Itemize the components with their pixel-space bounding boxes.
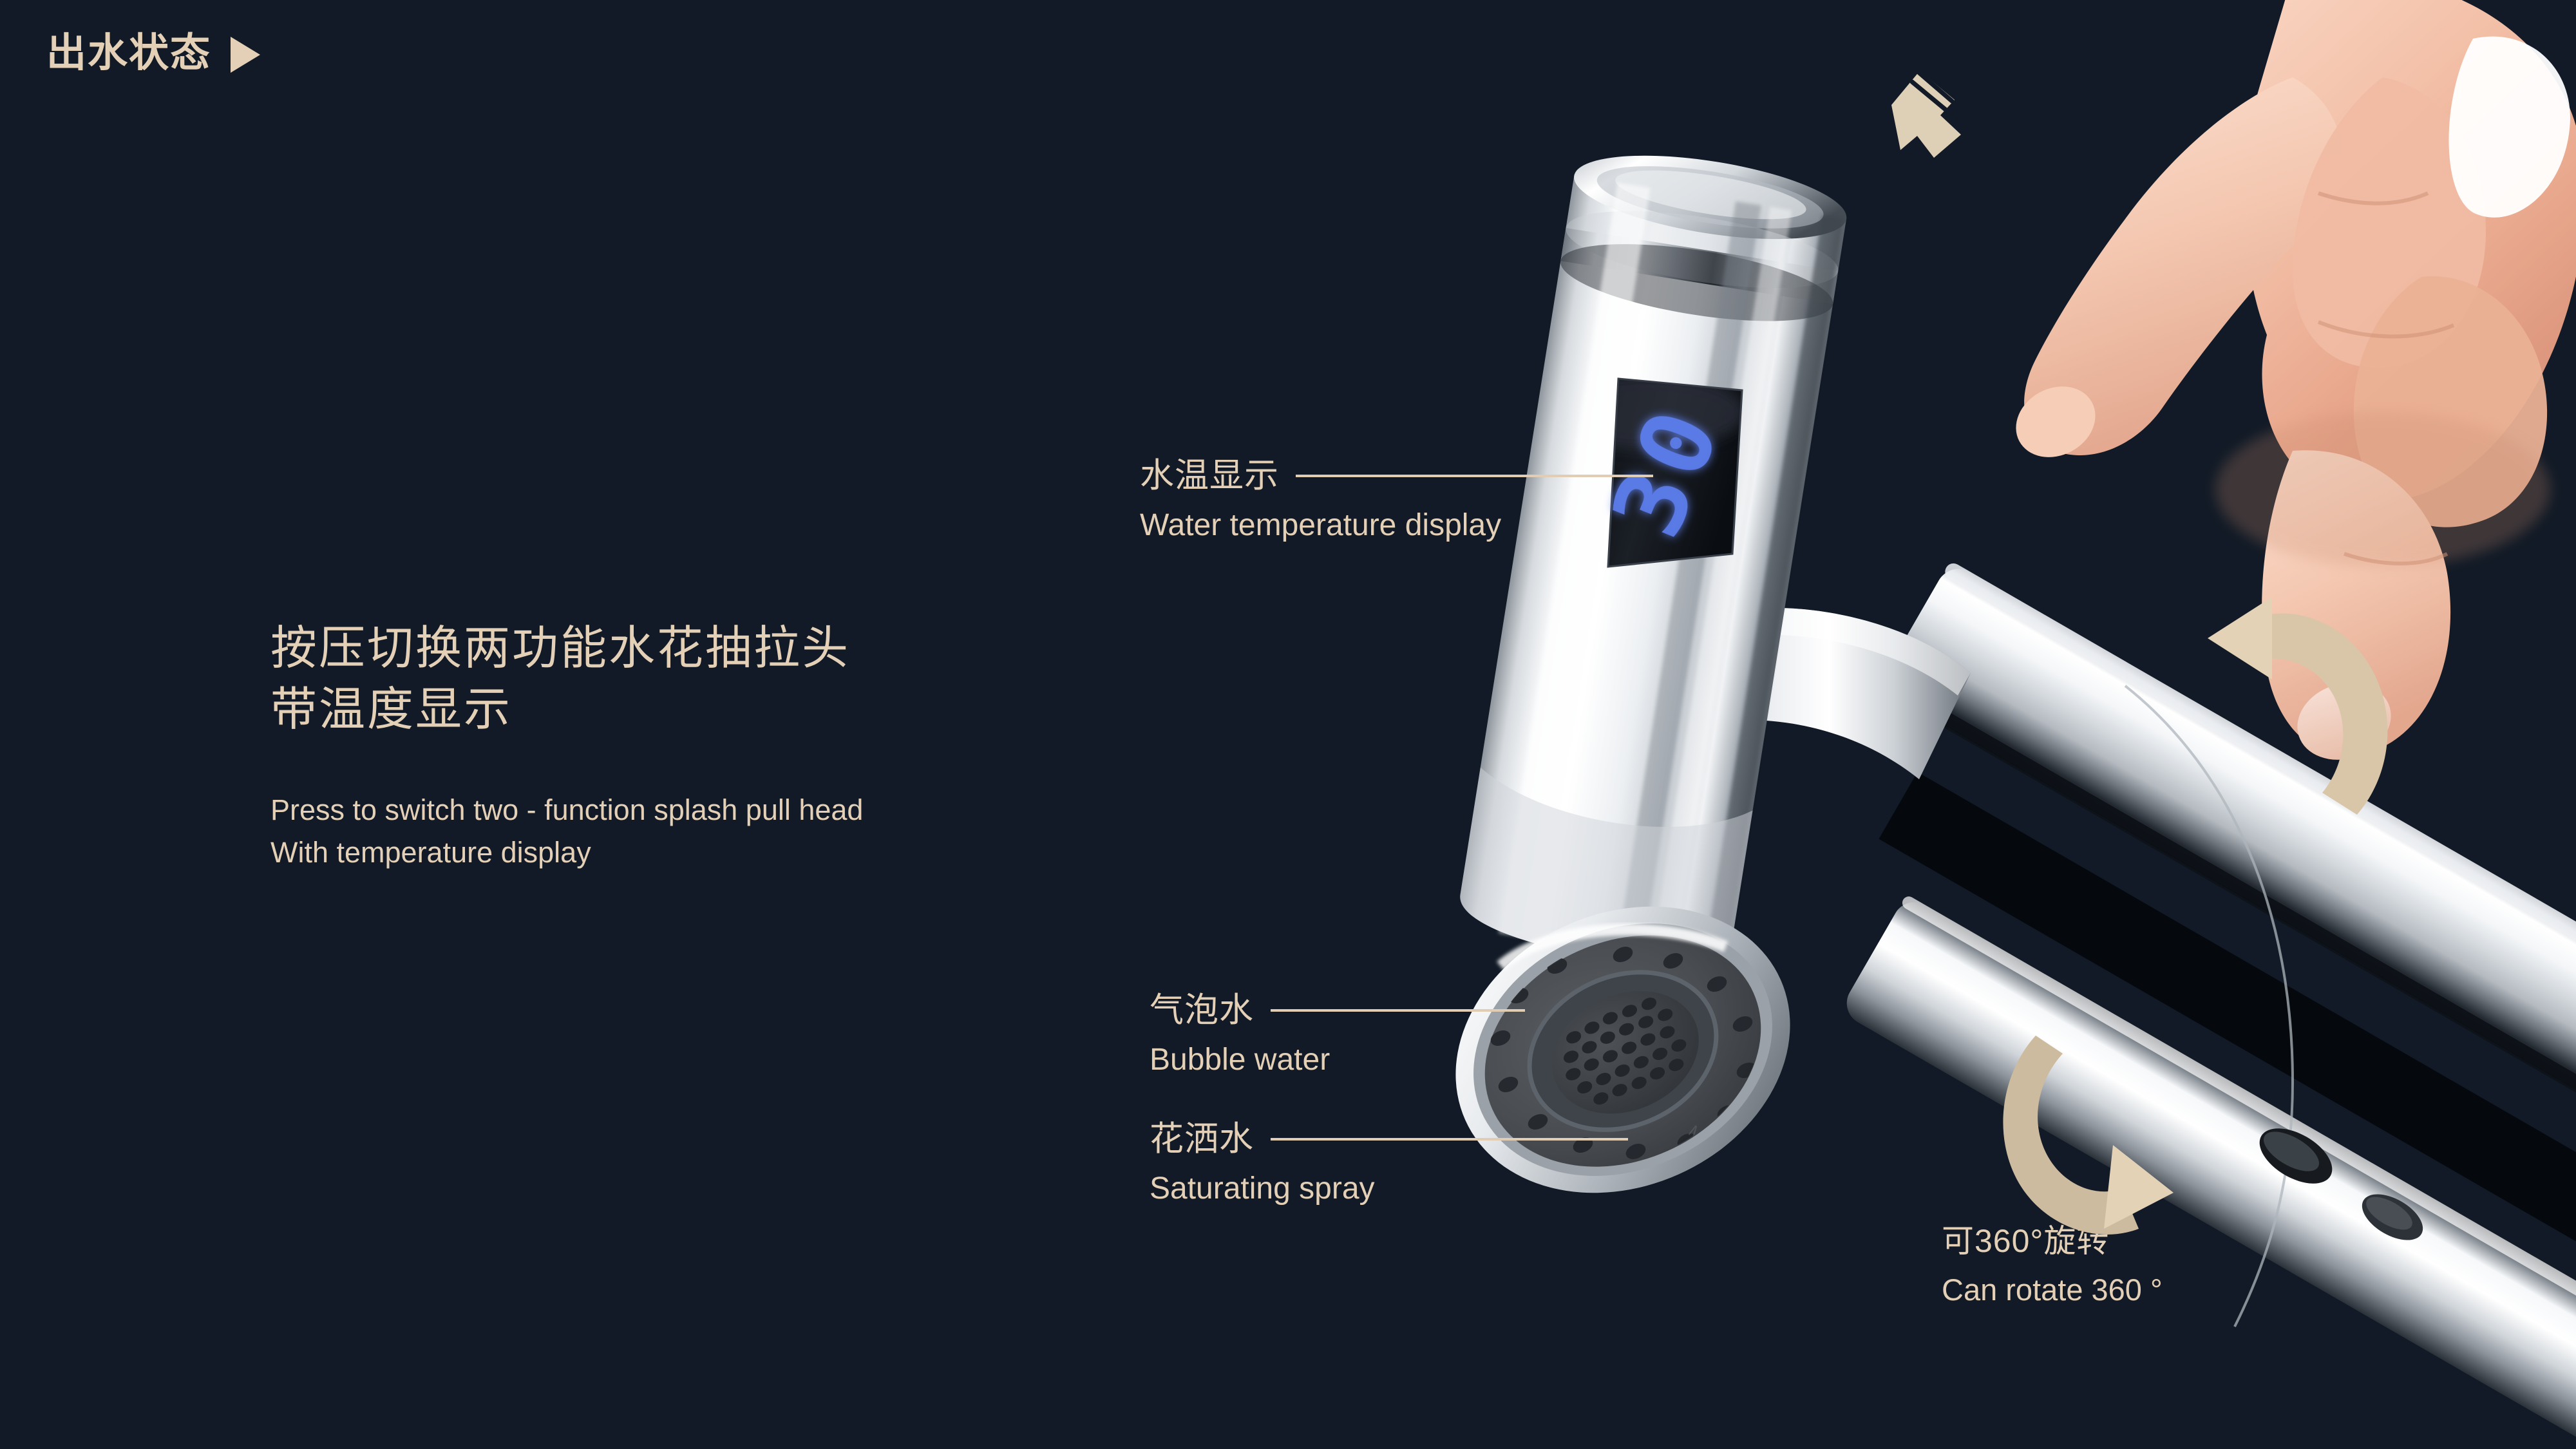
callout-bubble-water: 气泡水 Bubble water xyxy=(1150,992,1525,1077)
leader-line xyxy=(1296,475,1653,477)
rotate-clockwise-arrow-icon xyxy=(1987,1005,2244,1249)
callout-water-temperature: 水温显示 Water temperature display xyxy=(1140,457,1653,543)
feature-subtitle-en-line1: Press to switch two - function splash pu… xyxy=(270,791,1172,829)
feature-headline-cn-line1: 按压切换两功能水花抽拉头 xyxy=(270,618,1172,679)
play-triangle-icon xyxy=(231,37,260,73)
callout-bubble-water-label-cn: 气泡水 xyxy=(1150,992,1254,1029)
callout-saturating-spray-label-en: Saturating spray xyxy=(1150,1172,1628,1206)
feature-headline-cn-line2: 带温度显示 xyxy=(270,679,1172,741)
leader-line xyxy=(1271,1138,1628,1141)
callout-saturating-spray-label-cn: 花洒水 xyxy=(1150,1121,1254,1158)
callout-rotation-label-en: Can rotate 360 ° xyxy=(1942,1273,2163,1307)
svg-text:MINGLE BRAND: MINGLE BRAND xyxy=(1685,1121,1797,1215)
feature-subtitle-en-line2: With temperature display xyxy=(270,833,1172,872)
product-feature-slide: 30 xyxy=(0,0,2576,1449)
callout-water-temperature-label-cn: 水温显示 xyxy=(1140,457,1279,495)
feature-text-block: 按压切换两功能水花抽拉头 带温度显示 Press to switch two -… xyxy=(270,618,1172,872)
press-down-arrow-icon xyxy=(1858,48,2006,171)
page-title: 出水状态 xyxy=(46,33,211,73)
faucet-neck xyxy=(1713,608,1971,779)
callout-bubble-water-label-en: Bubble water xyxy=(1150,1043,1525,1077)
leader-line xyxy=(1271,1009,1525,1012)
page-header: 出水状态 xyxy=(46,33,260,73)
callout-water-temperature-label-en: Water temperature display xyxy=(1140,509,1653,543)
faucet-spray-head xyxy=(1454,140,1852,977)
callout-saturating-spray: 花洒水 Saturating spray xyxy=(1150,1121,1628,1206)
arm-button xyxy=(2250,1117,2430,1250)
rotate-counterclockwise-arrow-icon xyxy=(2183,583,2441,834)
